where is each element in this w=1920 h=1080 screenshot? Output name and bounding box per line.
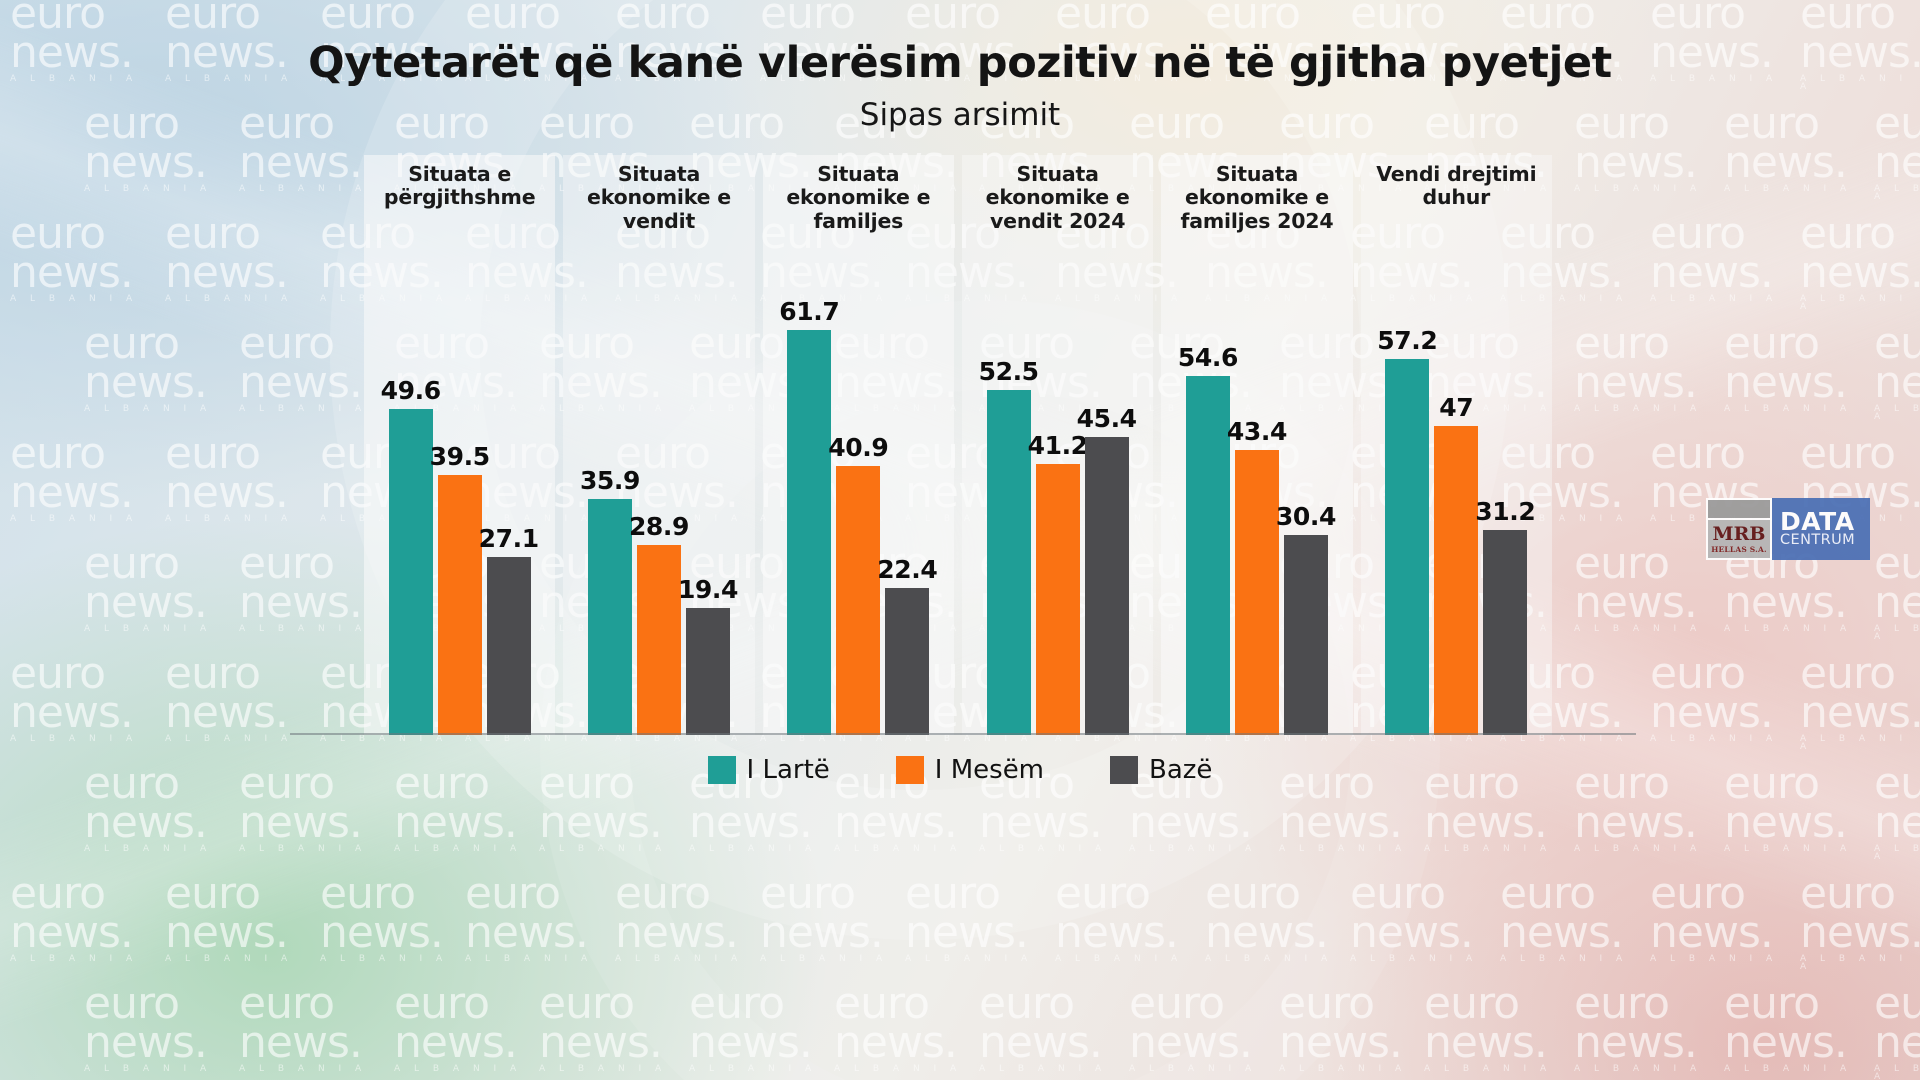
chart-bar[interactable]	[1483, 530, 1527, 735]
chart-bar-item[interactable]: 35.9	[588, 466, 632, 735]
chart-bar-item[interactable]: 43.4	[1235, 417, 1279, 735]
datacentrum-logo-line1: DATA	[1780, 510, 1855, 533]
chart-bar-item[interactable]: 49.6	[389, 376, 433, 735]
chart-bar-value-label: 45.4	[1077, 404, 1137, 433]
chart-bar-value-label: 30.4	[1276, 502, 1336, 531]
chart-bar[interactable]	[389, 409, 433, 735]
legend-label: I Mesëm	[935, 755, 1044, 785]
chart-bar-item[interactable]: 54.6	[1186, 343, 1230, 735]
page-title: Qytetarët që kanë vlerësim pozitiv në të…	[0, 38, 1920, 88]
mrb-logo-subtitle: HELLAS S.A.	[1711, 546, 1767, 554]
chart-bar[interactable]	[1085, 437, 1129, 735]
chart-group-label: Vendi drejtimi duhur	[1357, 163, 1556, 210]
page-subtitle: Sipas arsimit	[0, 97, 1920, 133]
legend-item[interactable]: Bazë	[1110, 755, 1212, 785]
chart-bar-value-label: 54.6	[1178, 343, 1238, 372]
chart-bar-value-label: 35.9	[580, 466, 640, 495]
chart-legend: I LartëI MesëmBazë	[0, 755, 1920, 785]
chart-bar[interactable]	[438, 475, 482, 735]
chart-bar-item[interactable]: 31.2	[1483, 497, 1527, 735]
chart-bar-value-label: 47	[1439, 393, 1473, 422]
chart-bar-value-label: 41.2	[1028, 431, 1088, 460]
chart-bar[interactable]	[588, 499, 632, 735]
chart-bar-item[interactable]: 39.5	[438, 442, 482, 735]
mrb-logo-bar	[1708, 500, 1770, 518]
chart-screenshot: euronews.A L B A N I Aeuronews.A L B A N…	[0, 0, 1920, 1080]
chart-bar-item[interactable]: 47	[1434, 393, 1478, 735]
chart-bar-value-label: 27.1	[479, 524, 539, 553]
legend-item[interactable]: I Lartë	[708, 755, 830, 785]
datacentrum-logo-line2: CENTRUM	[1780, 533, 1855, 548]
chart-bar[interactable]	[987, 390, 1031, 735]
chart-group: Situata ekonomike e familjes61.740.922.4	[759, 155, 958, 735]
legend-label: I Lartë	[747, 755, 830, 785]
chart-bar[interactable]	[637, 545, 681, 735]
chart-group: Situata ekonomike e vendit 202452.541.24…	[958, 155, 1157, 735]
mrb-logo: MRB HELLAS S.A.	[1706, 498, 1772, 560]
chart-bar[interactable]	[487, 557, 531, 735]
chart-bar-value-label: 28.9	[629, 512, 689, 541]
chart-bar-item[interactable]: 61.7	[787, 297, 831, 735]
legend-item[interactable]: I Mesëm	[896, 755, 1044, 785]
chart-group: Vendi drejtimi duhur57.24731.2	[1357, 155, 1556, 735]
chart-bar-item[interactable]: 41.2	[1036, 431, 1080, 735]
mrb-logo-word: MRB	[1713, 525, 1766, 544]
chart-bar-value-label: 39.5	[430, 442, 490, 471]
chart-bar-groups: Situata e përgjithshme49.639.527.1Situat…	[360, 155, 1556, 735]
chart-group: Situata e përgjithshme49.639.527.1	[360, 155, 559, 735]
chart-group-bars: 61.740.922.4	[759, 275, 958, 735]
chart-group-label: Situata ekonomike e vendit	[559, 163, 758, 233]
legend-label: Bazë	[1149, 755, 1212, 785]
chart-group: Situata ekonomike e vendit35.928.919.4	[559, 155, 758, 735]
chart-bar[interactable]	[836, 466, 880, 735]
chart-bar-item[interactable]: 30.4	[1284, 502, 1328, 735]
chart-bar-item[interactable]: 22.4	[885, 555, 929, 735]
chart-bar[interactable]	[1235, 450, 1279, 735]
chart-bar-item[interactable]: 27.1	[487, 524, 531, 735]
chart-group: Situata ekonomike e familjes 202454.643.…	[1157, 155, 1356, 735]
chart-group-bars: 57.24731.2	[1357, 275, 1556, 735]
chart-group-label: Situata e përgjithshme	[360, 163, 559, 210]
chart-bar-value-label: 43.4	[1227, 417, 1287, 446]
chart-bar-value-label: 49.6	[381, 376, 441, 405]
mrb-logo-body: MRB HELLAS S.A.	[1708, 520, 1770, 558]
chart-bar-value-label: 61.7	[779, 297, 839, 326]
chart-bar-value-label: 57.2	[1377, 326, 1437, 355]
chart-group-bars: 54.643.430.4	[1157, 275, 1356, 735]
chart-group-bars: 49.639.527.1	[360, 275, 559, 735]
chart-bar-item[interactable]: 40.9	[836, 433, 880, 735]
chart-baseline	[290, 733, 1636, 735]
chart-bar-item[interactable]: 28.9	[637, 512, 681, 735]
chart-bar[interactable]	[686, 608, 730, 735]
chart-group-bars: 52.541.245.4	[958, 275, 1157, 735]
chart-group-label: Situata ekonomike e familjes	[759, 163, 958, 233]
chart-bar[interactable]	[1385, 359, 1429, 735]
chart-bar[interactable]	[1434, 426, 1478, 735]
chart-bar[interactable]	[1186, 376, 1230, 735]
chart-bar-item[interactable]: 45.4	[1085, 404, 1129, 735]
chart-bar-value-label: 52.5	[979, 357, 1039, 386]
chart-bar[interactable]	[787, 330, 831, 735]
chart-bar-item[interactable]: 19.4	[686, 575, 730, 735]
datacentrum-logo: DATA CENTRUM	[1772, 498, 1870, 560]
chart-plot-area: Situata e përgjithshme49.639.527.1Situat…	[360, 155, 1556, 735]
chart-bar[interactable]	[1284, 535, 1328, 735]
chart-bar[interactable]	[885, 588, 929, 735]
legend-color-swatch	[708, 756, 736, 784]
legend-color-swatch	[1110, 756, 1138, 784]
chart-bar-item[interactable]: 52.5	[987, 357, 1031, 735]
chart-bar[interactable]	[1036, 464, 1080, 735]
chart-bar-item[interactable]: 57.2	[1385, 326, 1429, 735]
chart-bar-value-label: 40.9	[828, 433, 888, 462]
chart-bar-value-label: 31.2	[1475, 497, 1535, 526]
chart-group-label: Situata ekonomike e vendit 2024	[958, 163, 1157, 233]
logo-strip: MRB HELLAS S.A. DATA CENTRUM	[1706, 498, 1870, 560]
chart-bar-value-label: 22.4	[877, 555, 937, 584]
chart-group-label: Situata ekonomike e familjes 2024	[1157, 163, 1356, 233]
legend-color-swatch	[896, 756, 924, 784]
chart-bar-value-label: 19.4	[678, 575, 738, 604]
chart-group-bars: 35.928.919.4	[559, 275, 758, 735]
